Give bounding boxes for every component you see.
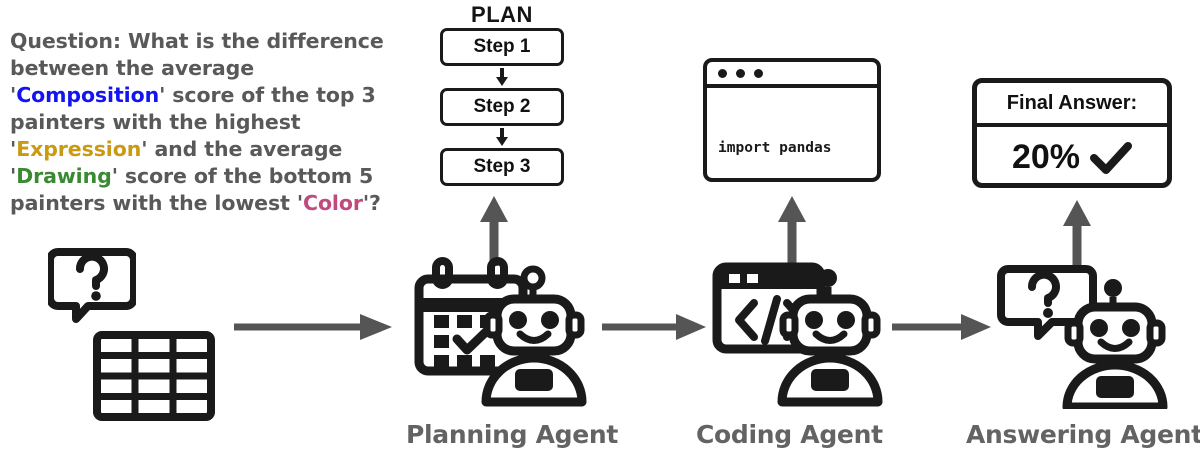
question-text-segment: '? <box>363 191 381 215</box>
table-icon <box>93 331 215 421</box>
arrow-table-to-planning <box>232 310 397 344</box>
plan-block: PLAN Step 1 Step 2 Step 3 <box>432 2 572 186</box>
robot-icon <box>1067 279 1163 407</box>
answering-agent-label: Answering Agent <box>966 420 1200 449</box>
plan-title: PLAN <box>432 2 572 28</box>
robot-icon <box>486 269 582 402</box>
check-icon <box>1090 141 1132 175</box>
plan-step-3[interactable]: Step 3 <box>440 148 564 186</box>
code-window: import pandas pandas.apply print (data) <box>703 58 881 182</box>
question-text-segment: Expression <box>16 137 141 161</box>
plan-step-arrow-1 <box>495 68 509 86</box>
code-window-body: import pandas pandas.apply print (data) <box>707 88 877 182</box>
plan-step-1[interactable]: Step 1 <box>440 28 564 66</box>
final-answer-row: 20% <box>977 127 1167 188</box>
window-dot-red <box>718 69 727 78</box>
planning-agent-icon <box>409 257 599 409</box>
question-text-segment: Drawing <box>16 164 112 188</box>
window-dot-yellow <box>736 69 745 78</box>
planning-agent-label: Planning Agent <box>406 420 618 449</box>
question-text-segment: Composition <box>16 83 159 107</box>
coding-agent-label: Coding Agent <box>696 420 883 449</box>
code-window-titlebar <box>707 62 877 88</box>
code-line-1: import pandas <box>718 138 877 159</box>
question-bubble-icon <box>48 246 136 324</box>
final-answer-value: 20% <box>1012 138 1080 177</box>
coding-agent-icon <box>709 257 894 409</box>
question-text-segment: Question: What is the difference between… <box>10 29 384 80</box>
window-dot-green <box>754 69 763 78</box>
question-text-segment: Color <box>303 191 363 215</box>
final-answer-label: Final Answer: <box>977 83 1167 127</box>
plan-step-arrow-2 <box>495 128 509 146</box>
plan-step-2[interactable]: Step 2 <box>440 88 564 126</box>
question-text-segment: and the average <box>147 137 342 161</box>
final-answer-box: Final Answer: 20% <box>972 78 1172 188</box>
arrow-planning-to-coding <box>600 310 710 344</box>
question-text: Question: What is the difference between… <box>10 28 410 217</box>
answering-agent-icon <box>994 257 1179 409</box>
arrow-coding-to-answering <box>890 310 995 344</box>
